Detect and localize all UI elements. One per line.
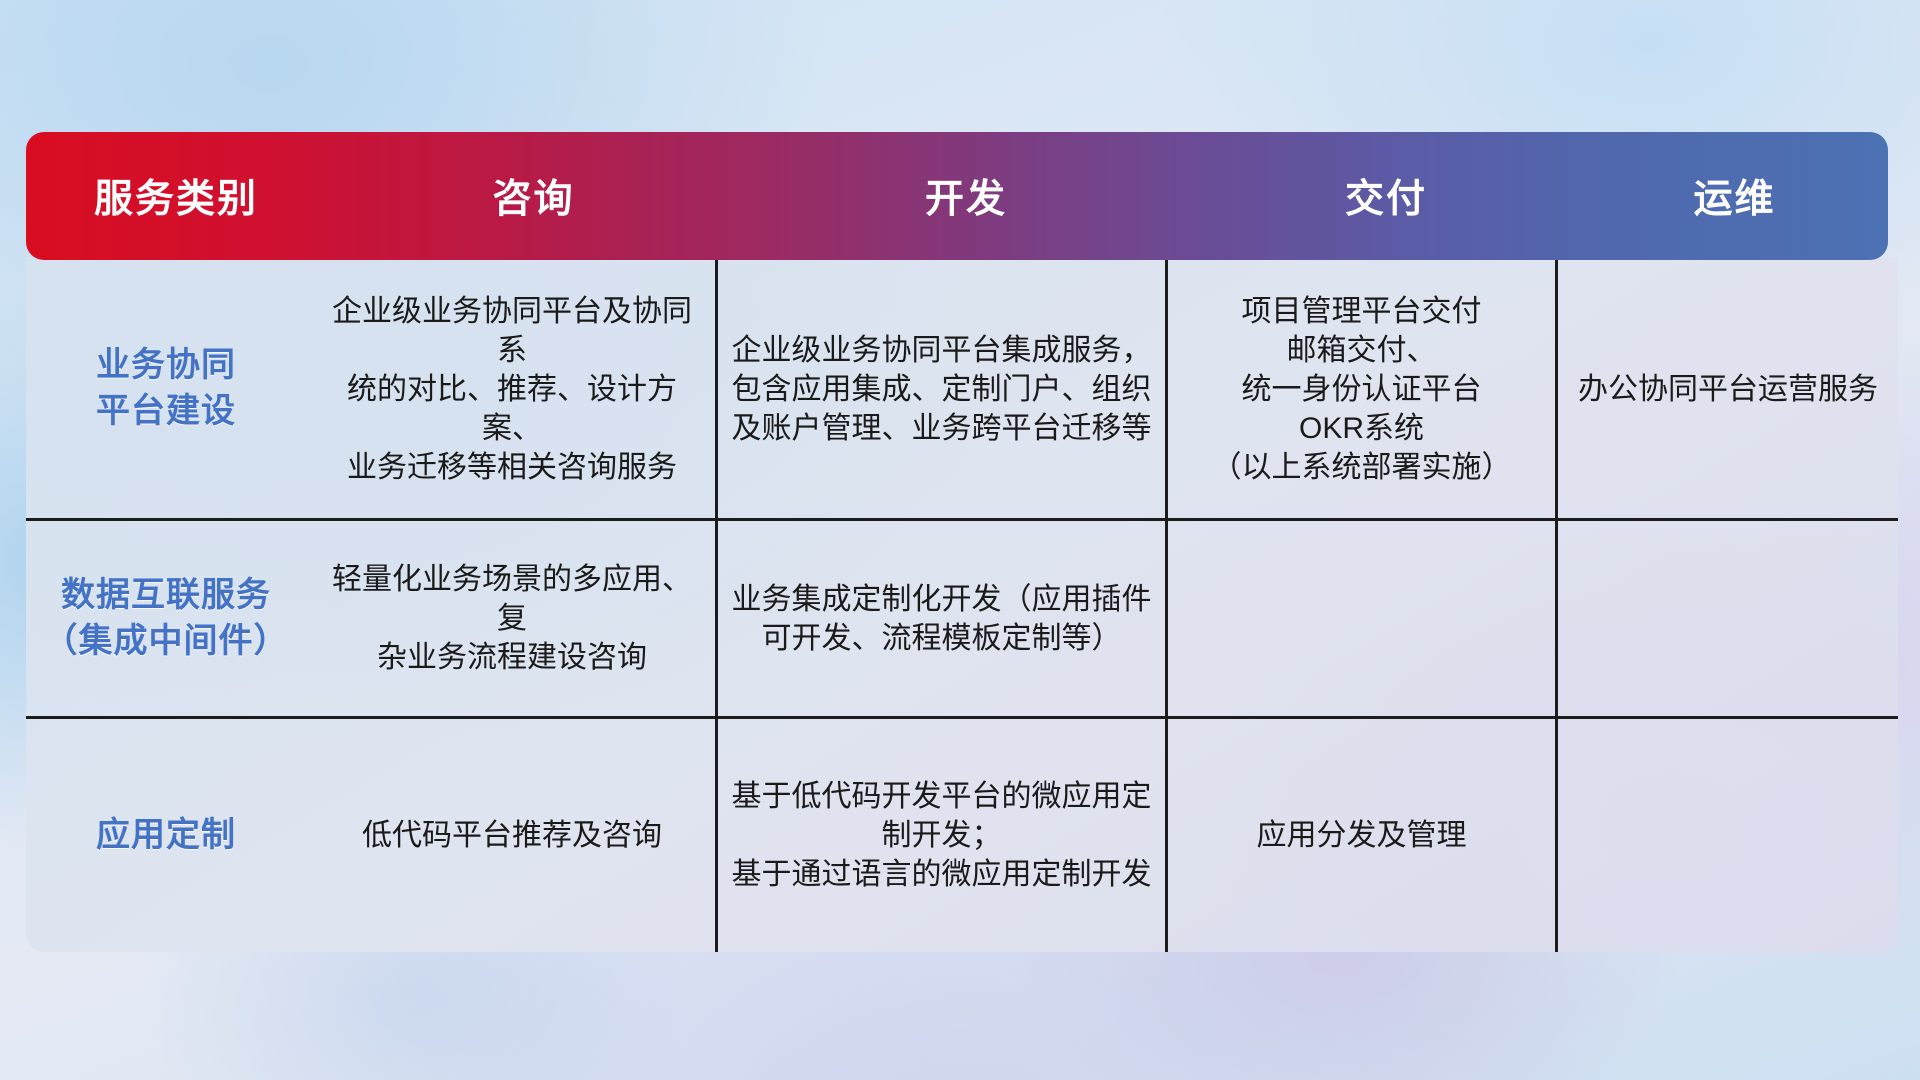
- row-2-development-text: 业务集成定制化开发（应用插件 可开发、流程模板定制等）: [732, 580, 1152, 658]
- row-1-delivery-cell: 项目管理平台交付 邮箱交付、 统一身份认证平台 OKR系统 （以上系统部署实施）: [1168, 260, 1555, 518]
- row-3-operations-cell: [1558, 719, 1898, 952]
- row-3-category-cell: 应用定制: [26, 719, 306, 952]
- header-cell-consulting: 咨询: [326, 168, 741, 224]
- row-3-consulting-text: 低代码平台推荐及咨询: [362, 816, 662, 855]
- row-1-category-cell: 业务协同 平台建设: [26, 260, 306, 518]
- header-cell-service-category: 服务类别: [26, 168, 326, 224]
- row-3-development-text: 基于低代码开发平台的微应用定 制开发； 基于通过语言的微应用定制开发: [732, 777, 1152, 894]
- row-2-category-cell: 数据互联服务 （集成中间件）: [26, 521, 306, 716]
- row-2-consulting-cell: 轻量化业务场景的多应用、复 杂业务流程建设咨询: [309, 521, 715, 716]
- row-2-delivery-cell: [1168, 521, 1555, 716]
- row-1-operations-text: 办公协同平台运营服务: [1578, 370, 1878, 409]
- row-2-consulting-text: 轻量化业务场景的多应用、复 杂业务流程建设咨询: [319, 560, 705, 677]
- service-matrix-table: 服务类别 咨询 开发 交付 运维 业务协同 平台建设 企业级业务协同平台及协同系…: [26, 132, 1898, 952]
- column-divider-2: [1165, 260, 1168, 952]
- header-cell-delivery: 交付: [1191, 168, 1581, 224]
- row-1-category-label: 业务协同 平台建设: [96, 343, 236, 435]
- row-divider-2: [26, 716, 1898, 719]
- row-2-category-label: 数据互联服务 （集成中间件）: [44, 573, 289, 665]
- row-1-consulting-text: 企业级业务协同平台及协同系 统的对比、推荐、设计方案、 业务迁移等相关咨询服务: [319, 292, 705, 487]
- table-header-row: 服务类别 咨询 开发 交付 运维: [26, 132, 1888, 260]
- row-3-consulting-cell: 低代码平台推荐及咨询: [309, 719, 715, 952]
- row-3-development-cell: 基于低代码开发平台的微应用定 制开发； 基于通过语言的微应用定制开发: [718, 719, 1165, 952]
- row-3-delivery-text: 应用分发及管理: [1257, 816, 1467, 855]
- row-1-consulting-cell: 企业级业务协同平台及协同系 统的对比、推荐、设计方案、 业务迁移等相关咨询服务: [309, 260, 715, 518]
- row-3-delivery-cell: 应用分发及管理: [1168, 719, 1555, 952]
- row-1-delivery-text: 项目管理平台交付 邮箱交付、 统一身份认证平台 OKR系统 （以上系统部署实施）: [1212, 292, 1512, 487]
- column-divider-1: [715, 260, 718, 952]
- column-divider-3: [1555, 260, 1558, 952]
- row-3-category-label: 应用定制: [96, 813, 236, 859]
- row-1-development-cell: 企业级业务协同平台集成服务， 包含应用集成、定制门户、组织 及账户管理、业务跨平…: [718, 260, 1165, 518]
- header-cell-development: 开发: [741, 168, 1191, 224]
- row-1-operations-cell: 办公协同平台运营服务: [1558, 260, 1898, 518]
- row-divider-1: [26, 518, 1898, 521]
- row-1-development-text: 企业级业务协同平台集成服务， 包含应用集成、定制门户、组织 及账户管理、业务跨平…: [732, 331, 1152, 448]
- row-2-operations-cell: [1558, 521, 1898, 716]
- header-cell-operations: 运维: [1581, 168, 1888, 224]
- row-2-development-cell: 业务集成定制化开发（应用插件 可开发、流程模板定制等）: [718, 521, 1165, 716]
